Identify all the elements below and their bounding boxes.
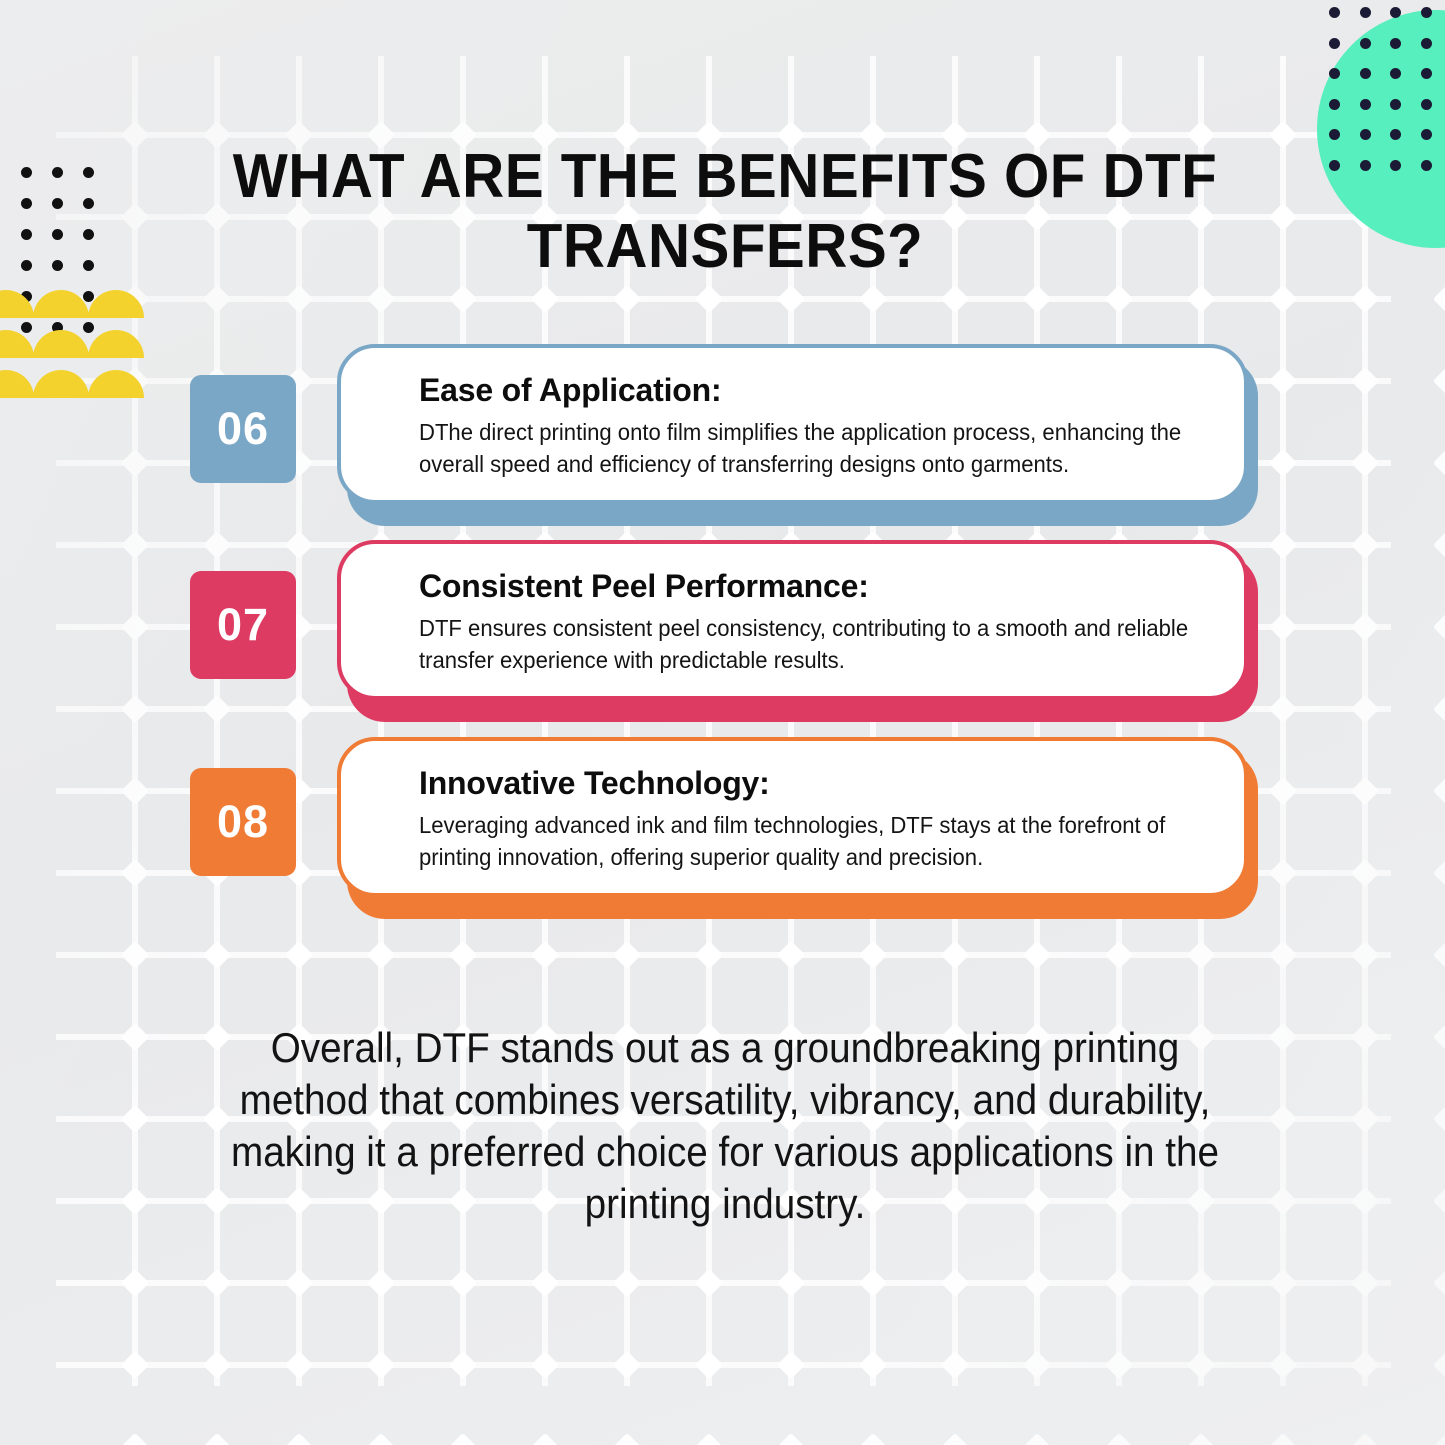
badge-number-06: 06 <box>190 375 296 483</box>
grid-node-diamond <box>1351 695 1379 723</box>
grid-node-diamond <box>1351 1351 1379 1379</box>
grid-node-diamond <box>613 285 641 313</box>
grid-node-diamond <box>1351 285 1379 313</box>
grid-node-diamond <box>367 1269 395 1297</box>
decorative-dot <box>1390 129 1401 140</box>
grid-node-diamond <box>1269 285 1297 313</box>
grid-node-diamond <box>1269 1023 1297 1051</box>
grid-node-diamond <box>1351 1269 1379 1297</box>
grid-node-diamond <box>859 1269 887 1297</box>
grid-node-diamond <box>1269 1187 1297 1215</box>
grid-node-diamond <box>1269 531 1297 559</box>
grid-node-diamond <box>1351 1023 1379 1051</box>
grid-node-diamond <box>203 1351 231 1379</box>
decorative-dot <box>21 167 32 178</box>
grid-node-diamond <box>449 1351 477 1379</box>
decorative-dot <box>1390 38 1401 49</box>
grid-node-diamond <box>121 695 149 723</box>
grid-node-diamond <box>285 941 313 969</box>
grid-node-diamond <box>531 1351 559 1379</box>
grid-node-diamond <box>531 941 559 969</box>
benefit-card-06[interactable]: Ease of Application: DThe direct printin… <box>337 344 1248 504</box>
decorative-dot <box>1329 99 1340 110</box>
grid-node-diamond <box>1105 1351 1133 1379</box>
grid-node-diamond <box>941 1269 969 1297</box>
decorative-dot <box>1360 68 1371 79</box>
benefit-body-08: Leveraging advanced ink and film technol… <box>419 809 1209 873</box>
infographic-poster: WHAT ARE THE BENEFITS OF DTF TRANSFERS? … <box>0 0 1445 1445</box>
benefit-card-wrapper-08: Innovative Technology: Leveraging advanc… <box>337 737 1258 897</box>
grid-node-diamond <box>613 1351 641 1379</box>
grid-node-diamond <box>941 285 969 313</box>
grid-node-diamond <box>1269 121 1297 149</box>
decorative-dot <box>83 322 94 333</box>
grid-node-diamond <box>285 531 313 559</box>
decorative-dot <box>1329 38 1340 49</box>
grid-node-diamond <box>1105 285 1133 313</box>
grid-node-diamond <box>449 941 477 969</box>
grid-node-diamond <box>121 1023 149 1051</box>
decorative-dot <box>1360 99 1371 110</box>
grid-node-diamond <box>367 285 395 313</box>
grid-node-diamond <box>941 941 969 969</box>
page-title: WHAT ARE THE BENEFITS OF DTF TRANSFERS? <box>185 142 1266 282</box>
decorative-dot <box>1421 99 1432 110</box>
grid-node-diamond <box>777 941 805 969</box>
grid-node-diamond <box>367 1351 395 1379</box>
grid-node-diamond <box>203 695 231 723</box>
grid-node-diamond <box>449 1269 477 1297</box>
decorative-dot <box>1390 99 1401 110</box>
decorative-dot <box>83 229 94 240</box>
benefit-title-08: Innovative Technology: <box>419 763 1210 803</box>
grid-node-diamond <box>121 941 149 969</box>
decorative-dot <box>1329 7 1340 18</box>
grid-node-diamond <box>1187 1351 1215 1379</box>
grid-node-diamond <box>531 285 559 313</box>
decorative-dot <box>83 260 94 271</box>
grid-node-diamond <box>203 285 231 313</box>
decorative-dot <box>1421 38 1432 49</box>
grid-node-diamond <box>121 203 149 231</box>
grid-node-diamond <box>695 285 723 313</box>
grid-node-diamond <box>203 531 231 559</box>
benefit-title-07: Consistent Peel Performance: <box>419 566 1210 606</box>
decorative-dot <box>1421 7 1432 18</box>
grid-node-diamond <box>121 1269 149 1297</box>
grid-node-diamond <box>203 941 231 969</box>
decorative-dot <box>21 229 32 240</box>
decorative-dot <box>1329 129 1340 140</box>
decorative-dot <box>52 229 63 240</box>
grid-node-diamond <box>121 1187 149 1215</box>
decorative-dot <box>1360 38 1371 49</box>
grid-node-diamond <box>1269 203 1297 231</box>
decorative-dot <box>1360 129 1371 140</box>
grid-node-diamond <box>859 941 887 969</box>
grid-node-diamond <box>941 1351 969 1379</box>
grid-node-diamond <box>285 1351 313 1379</box>
grid-node-diamond <box>285 285 313 313</box>
grid-node-diamond <box>1187 1269 1215 1297</box>
grid-node-diamond <box>695 941 723 969</box>
grid-node-diamond <box>121 121 149 149</box>
grid-node-diamond <box>449 285 477 313</box>
grid-node-diamond <box>1187 941 1215 969</box>
decorative-dot <box>1329 68 1340 79</box>
grid-node-diamond <box>1351 777 1379 805</box>
grid-node-diamond <box>1351 531 1379 559</box>
grid-node-diamond <box>1269 449 1297 477</box>
benefit-body-06: DThe direct printing onto film simplifie… <box>419 416 1209 480</box>
grid-node-diamond <box>1269 1269 1297 1297</box>
grid-node-diamond <box>121 1105 149 1133</box>
grid-node-diamond <box>1351 367 1379 395</box>
grid-node-diamond <box>121 531 149 559</box>
grid-node-diamond <box>1351 941 1379 969</box>
grid-node-diamond <box>1351 859 1379 887</box>
grid-node-diamond <box>1351 613 1379 641</box>
grid-node-diamond <box>859 285 887 313</box>
decorative-dot <box>1390 160 1401 171</box>
grid-node-diamond <box>121 1351 149 1379</box>
benefit-body-07: DTF ensures consistent peel consistency,… <box>419 612 1209 676</box>
decorative-dot <box>1360 160 1371 171</box>
grid-node-diamond <box>121 777 149 805</box>
grid-node-diamond <box>1269 613 1297 641</box>
grid-node-diamond <box>1023 285 1051 313</box>
grid-node-diamond <box>1351 449 1379 477</box>
grid-node-diamond <box>1105 1269 1133 1297</box>
grid-node-diamond <box>1351 1105 1379 1133</box>
grid-node-diamond <box>777 285 805 313</box>
grid-node-diamond <box>1269 695 1297 723</box>
grid-node-diamond <box>1023 941 1051 969</box>
grid-node-diamond <box>203 1269 231 1297</box>
grid-node-diamond <box>1351 1187 1379 1215</box>
conclusion-text: Overall, DTF stands out as a groundbreak… <box>224 1022 1227 1230</box>
decorative-dot <box>1421 68 1432 79</box>
grid-node-diamond <box>777 1351 805 1379</box>
grid-node-diamond <box>1269 941 1297 969</box>
benefit-card-wrapper-07: Consistent Peel Performance: DTF ensures… <box>337 540 1258 700</box>
grid-node-diamond <box>285 1269 313 1297</box>
grid-node-diamond <box>1269 859 1297 887</box>
grid-node-diamond <box>1269 777 1297 805</box>
decorative-dot <box>21 260 32 271</box>
decorative-dot <box>52 198 63 209</box>
grid-node-diamond <box>1187 285 1215 313</box>
grid-node-diamond <box>859 1351 887 1379</box>
badge-number-07: 07 <box>190 571 296 679</box>
decorative-dot <box>1421 129 1432 140</box>
grid-node-diamond <box>613 941 641 969</box>
grid-node-diamond <box>695 1351 723 1379</box>
grid-node-diamond <box>1023 1269 1051 1297</box>
decorative-dot <box>83 198 94 209</box>
grid-node-diamond <box>1023 1351 1051 1379</box>
badge-number-08: 08 <box>190 768 296 876</box>
decorative-dot <box>1390 7 1401 18</box>
grid-node-diamond <box>285 695 313 723</box>
decorative-dot <box>83 291 94 302</box>
decorative-dot <box>1329 160 1340 171</box>
decorative-dot <box>83 167 94 178</box>
grid-node-diamond <box>1269 367 1297 395</box>
decorative-dot <box>21 322 32 333</box>
decorative-dot <box>1390 68 1401 79</box>
grid-node-diamond <box>367 941 395 969</box>
grid-node-diamond <box>613 1269 641 1297</box>
decorative-dot <box>52 260 63 271</box>
grid-node-diamond <box>121 449 149 477</box>
benefit-card-wrapper-06: Ease of Application: DThe direct printin… <box>337 344 1258 504</box>
decorative-dot <box>1421 160 1432 171</box>
benefit-title-06: Ease of Application: <box>419 370 1210 410</box>
benefit-card-08[interactable]: Innovative Technology: Leveraging advanc… <box>337 737 1248 897</box>
grid-node-diamond <box>121 859 149 887</box>
grid-node-diamond <box>531 1269 559 1297</box>
decorative-dot <box>52 167 63 178</box>
grid-node-diamond <box>777 1269 805 1297</box>
decorative-dot <box>21 198 32 209</box>
grid-node-diamond <box>1269 1105 1297 1133</box>
benefit-card-07[interactable]: Consistent Peel Performance: DTF ensures… <box>337 540 1248 700</box>
grid-node-diamond <box>121 613 149 641</box>
grid-node-diamond <box>1269 1351 1297 1379</box>
grid-node-diamond <box>695 1269 723 1297</box>
grid-node-diamond <box>1105 941 1133 969</box>
decorative-dot <box>1360 7 1371 18</box>
